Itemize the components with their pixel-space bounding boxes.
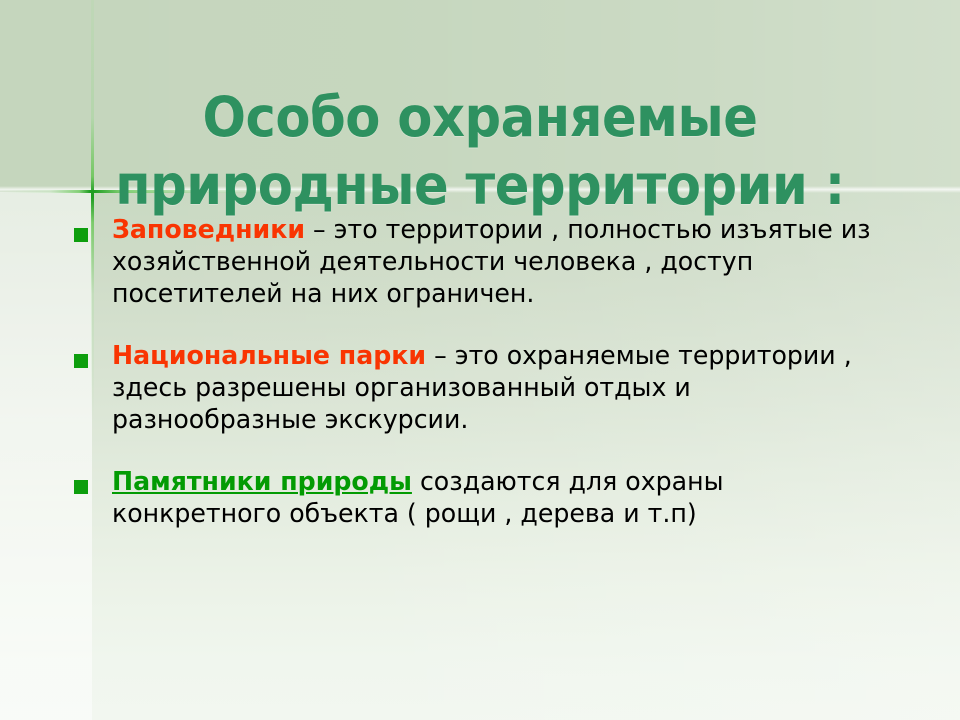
square-bullet-icon: [74, 480, 88, 494]
square-bullet-icon: [74, 354, 88, 368]
slide-title-line-1: Особо охраняемые: [34, 83, 927, 151]
list-item-text: Памятники природы создаются для охраны к…: [112, 466, 878, 530]
slide-title: Особо охраняемые природные территории :: [34, 83, 927, 219]
list-item-lead-term: Памятники природы: [112, 467, 412, 497]
presentation-slide: Особо охраняемые природные территории : …: [0, 0, 960, 720]
list-item: Заповедники – это территории , полностью…: [62, 214, 902, 310]
list-item: Национальные парки – это охраняемые терр…: [62, 340, 902, 436]
slide-title-line-2: природные территории :: [34, 151, 927, 219]
list-item-lead-term: Национальные парки: [112, 341, 426, 371]
list-item-text: Национальные парки – это охраняемые терр…: [112, 340, 878, 436]
list-item: Памятники природы создаются для охраны к…: [62, 466, 902, 530]
square-bullet-icon: [74, 228, 88, 242]
list-item-text: Заповедники – это территории , полностью…: [112, 214, 878, 310]
bullet-list: Заповедники – это территории , полностью…: [62, 214, 902, 530]
list-item-lead-term: Заповедники: [112, 215, 305, 245]
